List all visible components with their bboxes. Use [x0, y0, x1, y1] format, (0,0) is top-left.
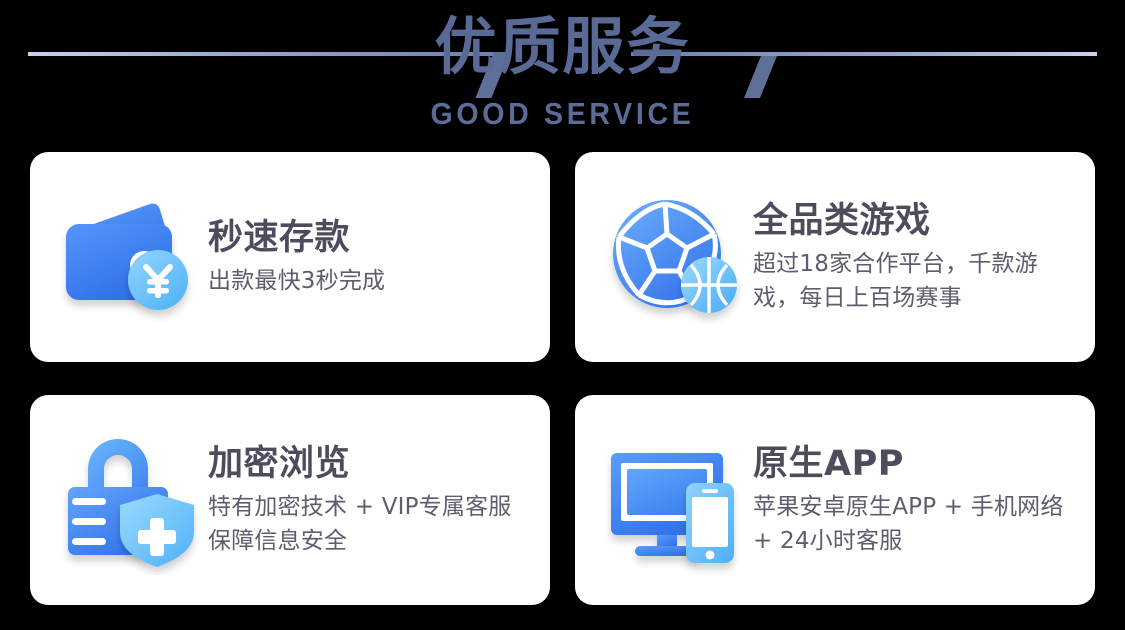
- card-title: 原生APP: [753, 442, 1079, 486]
- card-description: 超过18家合作平台，千款游戏，每日上百场赛事: [753, 247, 1079, 315]
- card-description: 出款最快3秒完成: [208, 264, 534, 298]
- feature-card-encryption[interactable]: 加密浏览 特有加密技术 + VIP专属客服保障信息安全: [30, 395, 550, 605]
- feature-card-deposit[interactable]: 秒速存款 出款最快3秒完成: [30, 152, 550, 362]
- card-text-block: 全品类游戏 超过18家合作平台，千款游戏，每日上百场赛事: [753, 199, 1095, 315]
- card-title: 秒速存款: [208, 216, 534, 260]
- feature-card-games[interactable]: 全品类游戏 超过18家合作平台，千款游戏，每日上百场赛事: [575, 152, 1095, 362]
- page-title: 优质服务: [0, 8, 1125, 86]
- banner-header: 优质服务 GOOD SERVICE: [0, 0, 1125, 150]
- wallet-yen-icon: [54, 182, 204, 332]
- card-title: 全品类游戏: [753, 199, 1079, 243]
- card-title: 加密浏览: [208, 442, 534, 486]
- monitor-phone-icon: [599, 425, 749, 575]
- card-text-block: 加密浏览 特有加密技术 + VIP专属客服保障信息安全: [208, 442, 550, 558]
- card-description: 特有加密技术 + VIP专属客服保障信息安全: [208, 490, 534, 558]
- feature-card-grid: 秒速存款 出款最快3秒完成: [30, 152, 1095, 589]
- card-text-block: 原生APP 苹果安卓原生APP + 手机网络 + 24小时客服: [753, 442, 1095, 558]
- soccer-basketball-icon: [599, 182, 749, 332]
- page-subtitle: GOOD SERVICE: [45, 96, 1080, 132]
- card-description: 苹果安卓原生APP + 手机网络 + 24小时客服: [753, 490, 1079, 558]
- card-text-block: 秒速存款 出款最快3秒完成: [208, 216, 550, 298]
- feature-card-native-app[interactable]: 原生APP 苹果安卓原生APP + 手机网络 + 24小时客服: [575, 395, 1095, 605]
- good-service-banner: 优质服务 GOOD SERVICE: [0, 0, 1125, 630]
- lock-shield-icon: [54, 425, 204, 575]
